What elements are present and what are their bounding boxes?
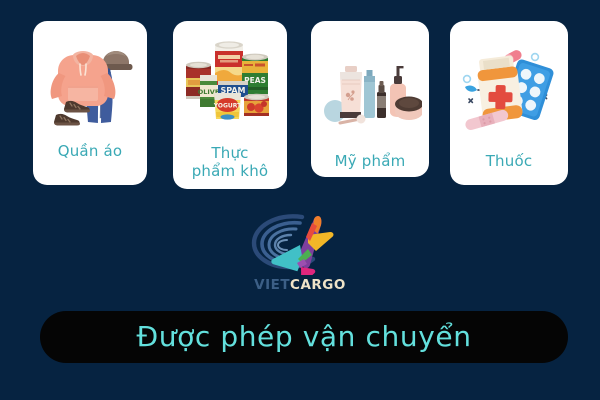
category-card-thuc-pham-kho[interactable]: PEAS xyxy=(173,21,287,189)
cosmetics-illustration xyxy=(311,47,429,139)
category-card-label: Quần áo xyxy=(33,143,147,161)
banner-text: Được phép vận chuyển xyxy=(136,323,471,351)
category-card-label: Thực phẩm khô xyxy=(173,145,287,180)
vietcargo-airplane-logo xyxy=(240,207,360,275)
brand-logo: VIETCARGO xyxy=(0,207,600,293)
svg-text:YOGURT: YOGURT xyxy=(213,103,242,110)
category-card-label: Thuốc xyxy=(450,153,568,171)
category-card-my-pham[interactable]: Mỹ phẩm xyxy=(311,21,429,177)
category-card-quan-ao[interactable]: Quần áo xyxy=(33,21,147,185)
brand-wordmark: VIETCARGO xyxy=(254,277,346,293)
brand-wordmark-cargo: CARGO xyxy=(290,277,346,293)
category-card-thuoc[interactable]: Thuốc xyxy=(450,21,568,185)
medicine-illustration xyxy=(450,41,568,137)
poster-canvas: Quần áo xyxy=(0,0,600,400)
category-card-label-line-2: phẩm khô xyxy=(192,162,269,180)
category-card-label-line-1: Thực xyxy=(211,144,248,162)
canned-food-illustration: PEAS xyxy=(173,33,287,129)
allowed-shipping-banner: Được phép vận chuyển xyxy=(40,311,568,363)
clothing-illustration xyxy=(33,29,147,133)
brand-wordmark-viet: VIET xyxy=(254,277,290,293)
category-card-label: Mỹ phẩm xyxy=(311,153,429,171)
